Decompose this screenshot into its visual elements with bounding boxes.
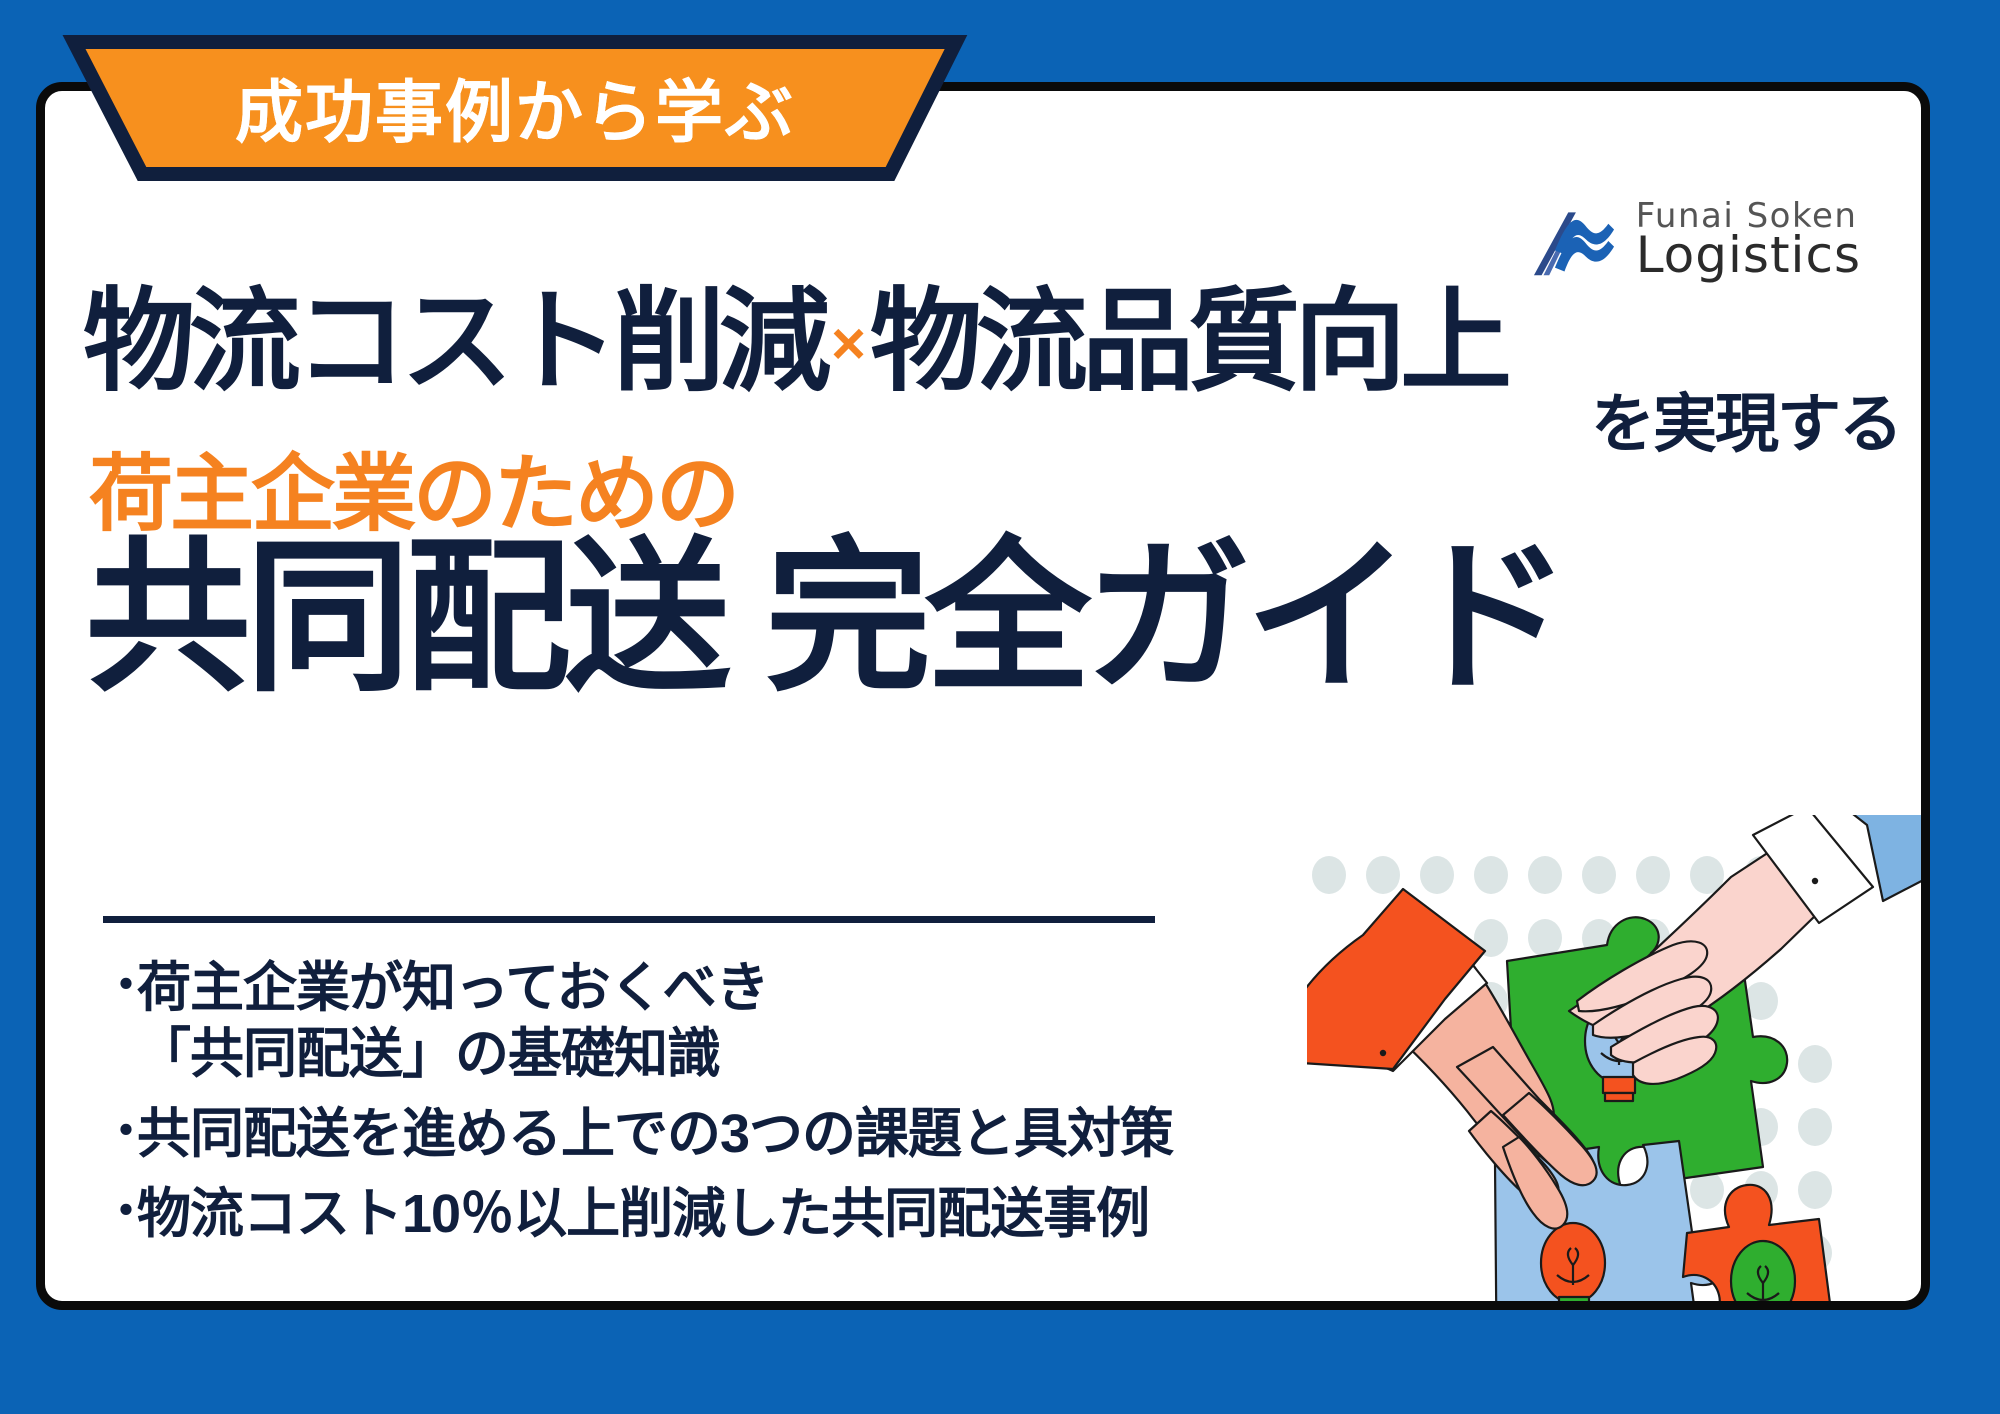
headline-line-3: 荷主企業のための	[63, 450, 1923, 538]
poster-background: Funai Soken Logistics 物流コスト削減 × 物流品質向上 を…	[0, 0, 2000, 1414]
list-item: ・ 荷主企業が知っておくべき 「共同配送」の基礎知識	[103, 956, 1503, 1088]
bullet-text: 共同配送を進める上での3つの課題と具対策	[137, 1102, 1173, 1168]
logo-line-2: Logistics	[1636, 232, 1861, 279]
bullet-text: 荷主企業が知っておくべき 「共同配送」の基礎知識	[137, 956, 769, 1088]
ribbon-banner: 成功事例から学ぶ	[70, 38, 960, 178]
bullet-text-line-1: 物流コスト10％以上削減した共同配送事例	[137, 1184, 1149, 1244]
bullet-list: ・ 荷主企業が知っておくべき 「共同配送」の基礎知識 ・ 共同配送を進める上での…	[103, 956, 1503, 1262]
funai-soken-wave-icon	[1526, 199, 1622, 281]
bullet-marker: ・	[103, 1182, 137, 1242]
brand-logo: Funai Soken Logistics	[1526, 199, 1861, 281]
content-card: Funai Soken Logistics 物流コスト削減 × 物流品質向上 を…	[36, 82, 1930, 1310]
puzzle-hands-illustration	[1307, 815, 1927, 1305]
headline-line-4: 共同配送 完全ガイド	[63, 534, 1923, 703]
headline-cost-reduction: 物流コスト削減	[83, 286, 825, 398]
bullet-marker: ・	[103, 1102, 137, 1162]
list-item: ・ 共同配送を進める上での3つの課題と具対策	[103, 1102, 1503, 1168]
puzzle-piece-red	[1683, 1185, 1843, 1305]
bullet-text-line-1: 共同配送を進める上での3つの課題と具対策	[137, 1104, 1173, 1164]
bullet-text-line-2: 「共同配送」の基礎知識	[137, 1022, 769, 1088]
headline-quality-improvement: 物流品質向上	[870, 286, 1506, 398]
divider-rule	[103, 916, 1155, 923]
bullet-text-line-1: 荷主企業が知っておくべき	[137, 958, 769, 1018]
ribbon-label: 成功事例から学ぶ	[70, 38, 960, 178]
headline-line-1: 物流コスト削減 × 物流品質向上	[63, 286, 1923, 398]
bullet-text: 物流コスト10％以上削減した共同配送事例	[137, 1182, 1149, 1248]
list-item: ・ 物流コスト10％以上削減した共同配送事例	[103, 1182, 1503, 1248]
headline-multiply-separator: ×	[831, 314, 866, 374]
headline-block: 物流コスト削減 × 物流品質向上 を実現する 荷主企業のための 共同配送 完全ガ…	[63, 286, 1923, 704]
bullet-marker: ・	[103, 956, 137, 1016]
